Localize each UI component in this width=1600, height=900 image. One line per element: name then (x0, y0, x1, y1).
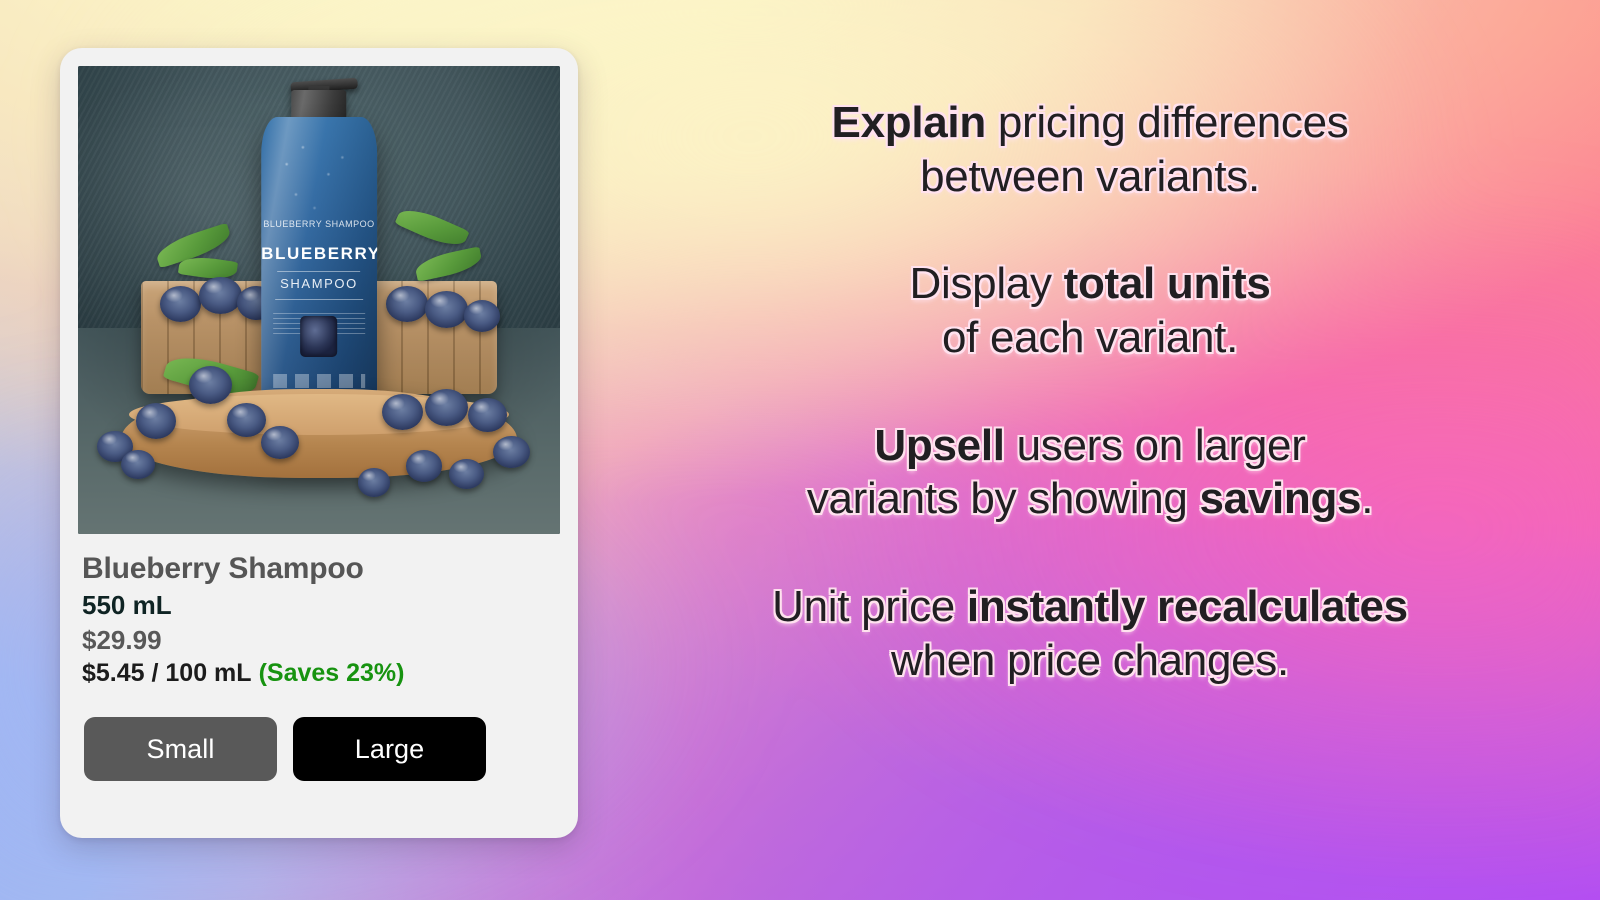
berry (449, 459, 484, 489)
unit-price-row: $5.45 / 100 mL(Saves 23%) (82, 658, 558, 689)
berry (136, 403, 176, 439)
savings-badge: (Saves 23%) (259, 659, 405, 687)
berry (199, 277, 242, 314)
berry (468, 398, 507, 432)
berry (382, 394, 423, 431)
variant-size-label: 550 mL (82, 589, 558, 622)
product-card[interactable]: BLUEBERRY SHAMPOO BLUEBERRY SHAMPOO CAPE… (60, 48, 578, 838)
product-details: Blueberry Shampoo 550 mL $29.99 $5.45 / … (78, 534, 560, 781)
bottle-label-icon-row (273, 374, 366, 388)
bottle-label-copy (275, 299, 363, 302)
berry (160, 286, 201, 322)
variant-button-large[interactable]: Large (293, 717, 486, 781)
berry (406, 450, 443, 482)
screen: BLUEBERRY SHAMPOO BLUEBERRY SHAMPOO CAPE… (0, 0, 1600, 900)
berry (227, 403, 266, 437)
feature-callouts: Explain pricing differencesbetween varia… (620, 96, 1560, 687)
feature-upsell: Upsell users on largervariants by showin… (620, 419, 1560, 526)
feature-pricing-differences: Explain pricing differencesbetween varia… (620, 96, 1560, 203)
variant-selector: Small Large (82, 717, 558, 781)
berry (464, 300, 501, 332)
berry (261, 426, 299, 459)
berry (189, 366, 232, 404)
berry (386, 286, 427, 322)
product-title: Blueberry Shampoo (82, 552, 558, 585)
bottle-brand-text: BLUEBERRY SHAMPOO (261, 219, 377, 229)
unit-price-value: $5.45 / 100 mL (82, 659, 252, 687)
product-image: BLUEBERRY SHAMPOO BLUEBERRY SHAMPOO CAPE… (78, 66, 560, 534)
variant-price: $29.99 (82, 624, 558, 657)
variant-button-small[interactable]: Small (84, 717, 277, 781)
bottle-subtitle-text: SHAMPOO (261, 276, 377, 291)
bottle-label-berry-photo (300, 316, 337, 356)
feature-total-units: Display total unitsof each variant. (620, 257, 1560, 364)
berry (121, 450, 155, 479)
berry (358, 468, 391, 496)
bottle-label-divider (277, 271, 360, 272)
feature-recalculate: Unit price instantly recalculateswhen pr… (620, 580, 1560, 687)
bottle-title-text: BLUEBERRY (261, 244, 377, 264)
